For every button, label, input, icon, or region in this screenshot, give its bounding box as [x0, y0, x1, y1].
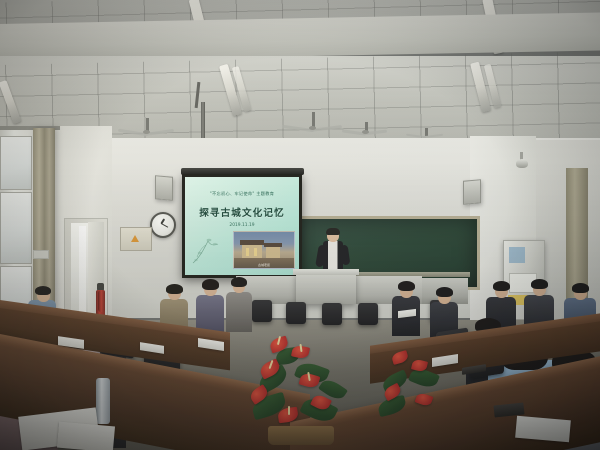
- document: [515, 416, 571, 443]
- podium-top: [293, 269, 359, 275]
- ink-painting-decoration: [190, 233, 230, 267]
- podium: [296, 272, 356, 304]
- chair[interactable]: [322, 303, 342, 325]
- wall-speaker-right-icon: [463, 179, 481, 205]
- dispenser-label: [509, 247, 525, 263]
- slide-photo: 古城老街: [233, 231, 295, 269]
- planter: [268, 426, 334, 445]
- presentation-slide: "不忘初心、牢记使命" 主题教育 探寻古城文化记忆 2019.11.19 古城老…: [185, 177, 299, 275]
- slide-date: 2019.11.19: [189, 223, 295, 228]
- wall-clock-icon: [150, 212, 176, 238]
- security-camera-icon: [516, 159, 528, 168]
- document: [57, 422, 115, 450]
- wall-speaker-left-icon: [155, 175, 173, 201]
- slide-subtitle: "不忘初心、牢记使命" 主题教育: [191, 191, 293, 197]
- classroom-photo: "不忘初心、牢记使命" 主题教育 探寻古城文化记忆 2019.11.19 古城老…: [0, 0, 600, 450]
- chair[interactable]: [286, 302, 306, 324]
- water-bottle: [96, 378, 110, 424]
- chair[interactable]: [252, 300, 272, 322]
- water-bottle: [98, 290, 105, 312]
- anthurium-arrangement: [248, 330, 368, 445]
- anthurium-arrangement: [376, 346, 446, 436]
- wall-switch-plate: [33, 250, 49, 259]
- presenter-torso: [323, 241, 343, 269]
- chair[interactable]: [358, 303, 378, 325]
- presenter-hair: [326, 228, 340, 235]
- slide-photo-caption: 古城老街: [234, 263, 294, 267]
- warning-triangle-icon: [131, 235, 139, 242]
- slide-title: 探寻古城文化记忆: [189, 205, 295, 219]
